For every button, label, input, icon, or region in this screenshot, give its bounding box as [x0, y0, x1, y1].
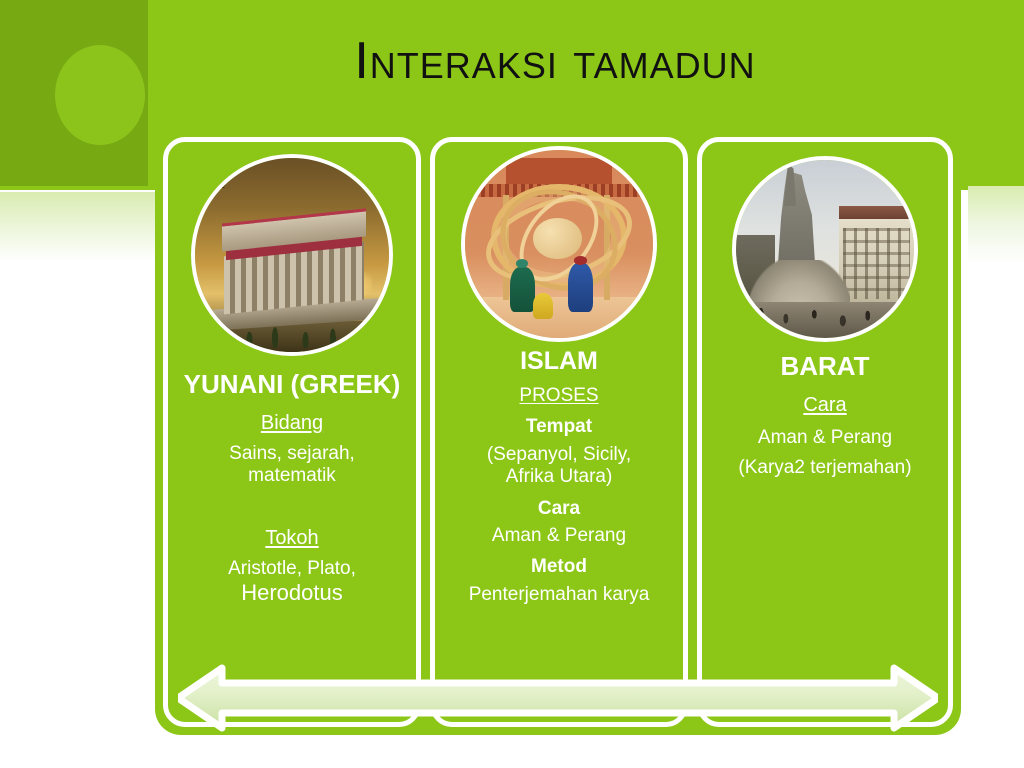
column-card-yunani[interactable]: rtemis e scene YUNANI (GREEK) Bidang Sai… — [163, 137, 421, 727]
greek-temple-image: rtemis e scene — [191, 154, 393, 356]
page-title: Interaksi tamadun — [155, 34, 955, 89]
label-cara-islam: Cara — [538, 498, 580, 520]
value-metod: Penterjemahan karya — [469, 584, 650, 606]
label-proses: PROSES — [519, 385, 598, 407]
value-tempat: (Sepanyol, Sicily, Afrika Utara) — [487, 444, 631, 489]
value-cara-barat: Aman & Perang (Karya2 terjemahan) — [738, 427, 911, 480]
value-cara-islam: Aman & Perang — [492, 525, 626, 547]
column-heading-islam: ISLAM — [520, 348, 598, 375]
islamic-armillary-sphere-image — [461, 146, 657, 342]
value-bidang: Sains, sejarah, matematik — [229, 443, 355, 488]
column-heading-barat: BARAT — [780, 352, 869, 380]
left-dark-green-block — [0, 0, 148, 186]
label-tokoh: Tokoh — [265, 527, 318, 551]
label-cara-barat: Cara — [803, 394, 846, 418]
columns-container: rtemis e scene YUNANI (GREEK) Bidang Sai… — [155, 129, 961, 735]
decorative-circle — [55, 45, 145, 145]
value-tokoh: Aristotle, Plato, Herodotus — [228, 558, 356, 606]
label-metod: Metod — [531, 556, 587, 578]
column-card-islam[interactable]: ISLAM PROSES Tempat (Sepanyol, Sicily, A… — [430, 137, 688, 727]
double-headed-arrow-icon — [178, 664, 938, 732]
label-tempat: Tempat — [526, 416, 592, 438]
dresden-ruins-image — [732, 156, 918, 342]
image-caption-artemis: rtemis — [201, 162, 226, 172]
label-bidang: Bidang — [261, 412, 323, 436]
image-caption-scene: e scene — [198, 180, 225, 190]
right-gradient-fade — [968, 186, 1024, 264]
double-headed-arrow — [178, 664, 938, 732]
column-card-barat[interactable]: BARAT Cara Aman & Perang (Karya2 terjema… — [697, 137, 953, 727]
column-heading-yunani: YUNANI (GREEK) — [184, 370, 401, 398]
